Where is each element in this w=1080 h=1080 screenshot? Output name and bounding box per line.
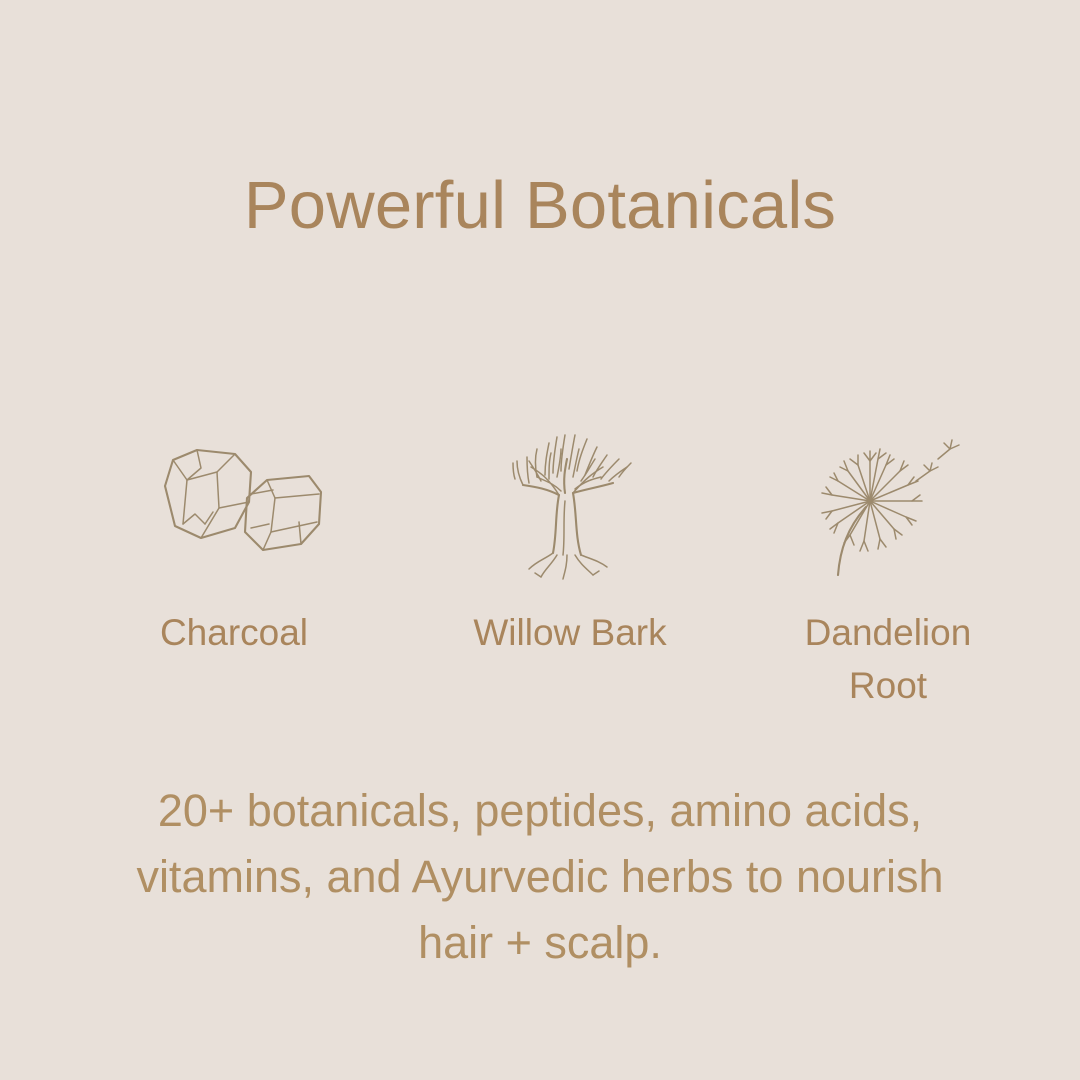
dandelion-icon	[793, 420, 983, 585]
page-title: Powerful Botanicals	[0, 168, 1080, 243]
willow-bark-tree-icon	[475, 420, 665, 585]
body-copy: 20+ botanicals, peptides, amino acids, v…	[0, 778, 1080, 976]
ingredient-item-dandelion-root: Dandelion Root	[738, 420, 1038, 712]
ingredient-label: Willow Bark	[473, 607, 666, 660]
ingredient-label: Charcoal	[160, 607, 308, 660]
ingredient-list: Charcoal	[0, 420, 1080, 712]
body-copy-line: hair + scalp.	[60, 910, 1020, 976]
charcoal-icon	[139, 420, 329, 585]
ingredient-item-charcoal: Charcoal	[84, 420, 384, 660]
body-copy-line: 20+ botanicals, peptides, amino acids,	[60, 778, 1020, 844]
promo-poster: Powerful Botanicals	[0, 0, 1080, 1080]
ingredient-item-willow-bark: Willow Bark	[420, 420, 720, 660]
body-copy-line: vitamins, and Ayurvedic herbs to nourish	[60, 844, 1020, 910]
ingredient-label: Dandelion Root	[773, 607, 1003, 712]
